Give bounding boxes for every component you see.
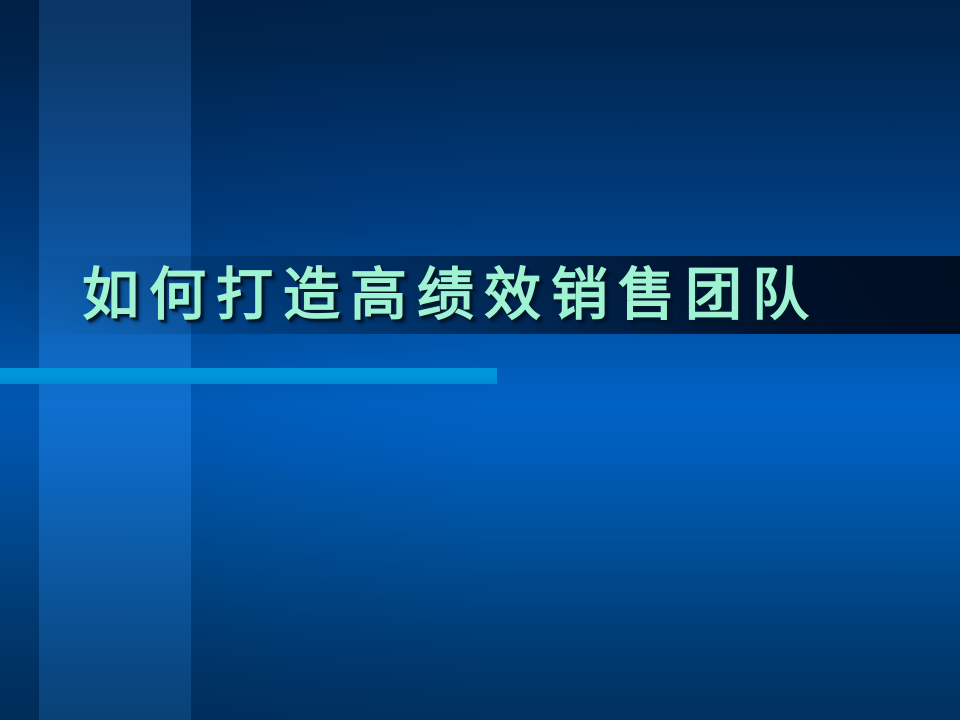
title-accent-bar xyxy=(0,368,497,384)
presentation-slide: 如何打造高绩效销售团队 xyxy=(0,0,960,720)
background-left-dark-stripe xyxy=(0,0,39,720)
background-right-dark-stripe xyxy=(191,0,960,720)
background-light-vertical-stripe xyxy=(39,0,191,720)
slide-title: 如何打造高绩效销售团队 xyxy=(82,252,942,338)
